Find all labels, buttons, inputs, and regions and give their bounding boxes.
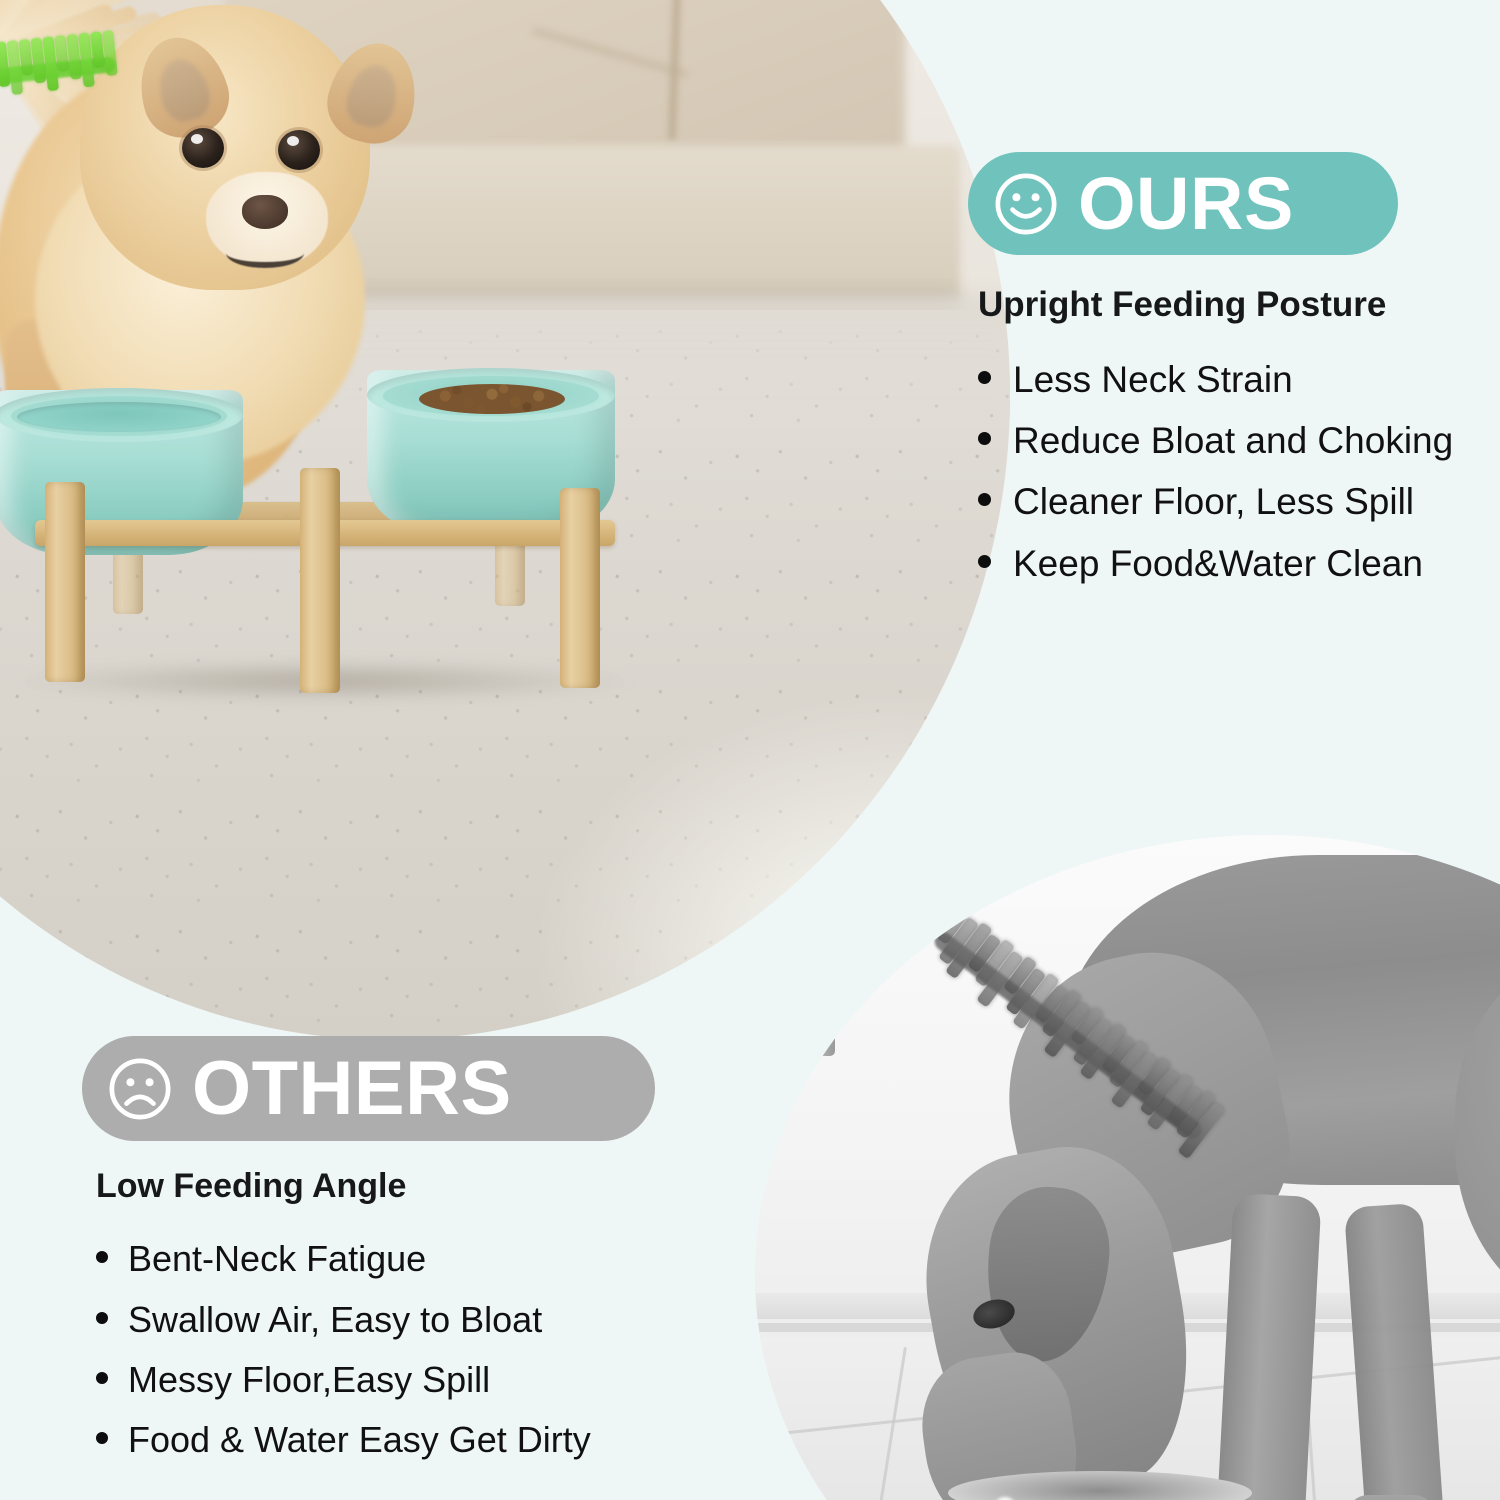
bamboo-stand-leg-overlap (783, 835, 835, 1056)
ours-bullet-text: Less Neck Strain (1013, 359, 1293, 400)
list-item: Keep Food&Water Clean (978, 543, 1488, 584)
list-item: Reduce Bloat and Choking (978, 420, 1488, 461)
stand-leg-right (560, 488, 600, 688)
dog-eye-left (182, 128, 224, 168)
stand-leg-center (300, 468, 340, 693)
bullet-dot-icon (978, 371, 991, 384)
large-dog-paw-front-second (1347, 1495, 1435, 1500)
dog-eye-right (278, 130, 320, 170)
stand-leg-left (45, 482, 85, 682)
others-drawback-list: Bent-Neck Fatigue Swallow Air, Easy to B… (96, 1239, 696, 1460)
bullet-dot-icon (978, 493, 991, 506)
ours-badge-label: OURS (1078, 167, 1294, 241)
others-badge-label: OTHERS (192, 1051, 512, 1127)
large-dog-bent-over-floor-bowl-photo (755, 835, 1500, 1500)
ours-subheading: Upright Feeding Posture (978, 286, 1488, 325)
others-badge: OTHERS (82, 1036, 655, 1141)
bullet-dot-icon (96, 1372, 108, 1384)
water-bowl-rim (0, 388, 243, 442)
list-item: Food & Water Easy Get Dirty (96, 1420, 696, 1460)
ours-benefit-list: Less Neck Strain Reduce Bloat and Chokin… (978, 359, 1488, 585)
stainless-steel-floor-bowl (940, 1475, 1260, 1500)
smiley-face-icon (990, 168, 1062, 240)
dog-ear-right (319, 34, 427, 152)
list-item: Less Neck Strain (978, 359, 1488, 400)
ours-badge: OURS (968, 152, 1398, 255)
ours-bullet-text: Cleaner Floor, Less Spill (1013, 481, 1414, 522)
list-item: Cleaner Floor, Less Spill (978, 481, 1488, 522)
list-item: Bent-Neck Fatigue (96, 1239, 696, 1279)
ours-text-block: Upright Feeding Posture Less Neck Strain… (978, 286, 1488, 604)
dry-kibble (419, 384, 565, 414)
bullet-dot-icon (978, 432, 991, 445)
food-bowl-rim (367, 368, 615, 422)
elevated-double-bowl-feeder (0, 360, 655, 690)
ours-bullet-text: Keep Food&Water Clean (1013, 543, 1423, 584)
large-dog-front-leg-left (1216, 1193, 1321, 1500)
infographic-canvas: OURS Upright Feeding Posture Less Neck S… (0, 0, 1500, 1500)
others-bullet-text: Bent-Neck Fatigue (128, 1239, 426, 1279)
bullet-dot-icon (96, 1312, 108, 1324)
list-item: Messy Floor,Easy Spill (96, 1360, 696, 1400)
water-surface (17, 402, 221, 432)
dog-nose (242, 195, 288, 229)
bullet-dot-icon (96, 1432, 108, 1444)
bullet-dot-icon (978, 555, 991, 568)
others-text-block: Low Feeding Angle Bent-Neck Fatigue Swal… (96, 1168, 696, 1481)
others-bullet-text: Swallow Air, Easy to Bloat (128, 1300, 542, 1340)
others-bullet-text: Messy Floor,Easy Spill (128, 1360, 490, 1400)
others-subheading: Low Feeding Angle (96, 1168, 696, 1205)
bullet-dot-icon (96, 1251, 108, 1263)
ours-bullet-text: Reduce Bloat and Choking (1013, 420, 1453, 461)
sad-face-icon (104, 1053, 176, 1125)
others-bullet-text: Food & Water Easy Get Dirty (128, 1420, 591, 1460)
dog-mouth (226, 238, 304, 268)
list-item: Swallow Air, Easy to Bloat (96, 1300, 696, 1340)
